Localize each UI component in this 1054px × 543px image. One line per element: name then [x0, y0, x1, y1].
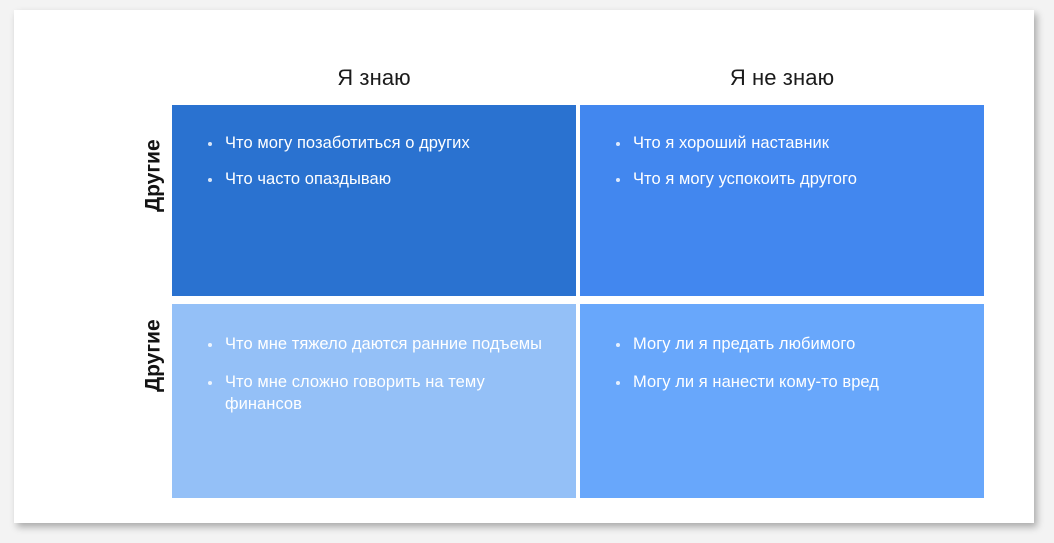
list-item: Что мне тяжело даются ранние подъемы [206, 334, 550, 356]
list-item: Могу ли я нанести кому-то вред [614, 372, 958, 394]
list-item: Что я хороший наставник [614, 133, 958, 155]
quadrant-unknown-area: Могу ли я предать любимого Могу ли я нан… [580, 304, 984, 498]
list-item: Что часто опаздываю [206, 169, 550, 191]
row-header-others-know-line1: Другие [140, 76, 166, 276]
quadrant-unknown-area-list: Могу ли я предать любимого Могу ли я нан… [614, 334, 958, 394]
list-item: Что я могу успокоить другого [614, 169, 958, 191]
list-item: Что мне сложно говорить на тему финансов [206, 372, 550, 416]
quadrant-hidden-area-list: Что мне тяжело даются ранние подъемы Что… [206, 334, 550, 416]
quadrant-blind-area-list: Что я хороший наставник Что я могу успок… [614, 133, 958, 191]
page-background: Я знаю Я не знаю Другие знают Другие не … [0, 0, 1054, 543]
quadrant-hidden-area: Что мне тяжело даются ранние подъемы Что… [172, 304, 576, 498]
quadrant-open-area-list: Что могу позаботиться о других Что часто… [206, 133, 550, 191]
quadrant-open-area: Что могу позаботиться о других Что часто… [172, 105, 576, 296]
list-item: Могу ли я предать любимого [614, 334, 958, 356]
column-header-i-know: Я знаю [172, 63, 576, 93]
johari-window-card: Я знаю Я не знаю Другие знают Другие не … [14, 10, 1034, 523]
column-header-i-dont-know: Я не знаю [580, 63, 984, 93]
list-item: Что могу позаботиться о других [206, 133, 550, 155]
quadrant-blind-area: Что я хороший наставник Что я могу успок… [580, 105, 984, 296]
johari-grid: Что могу позаботиться о других Что часто… [172, 105, 984, 498]
row-header-others-dont-know-line1: Другие [140, 256, 166, 456]
